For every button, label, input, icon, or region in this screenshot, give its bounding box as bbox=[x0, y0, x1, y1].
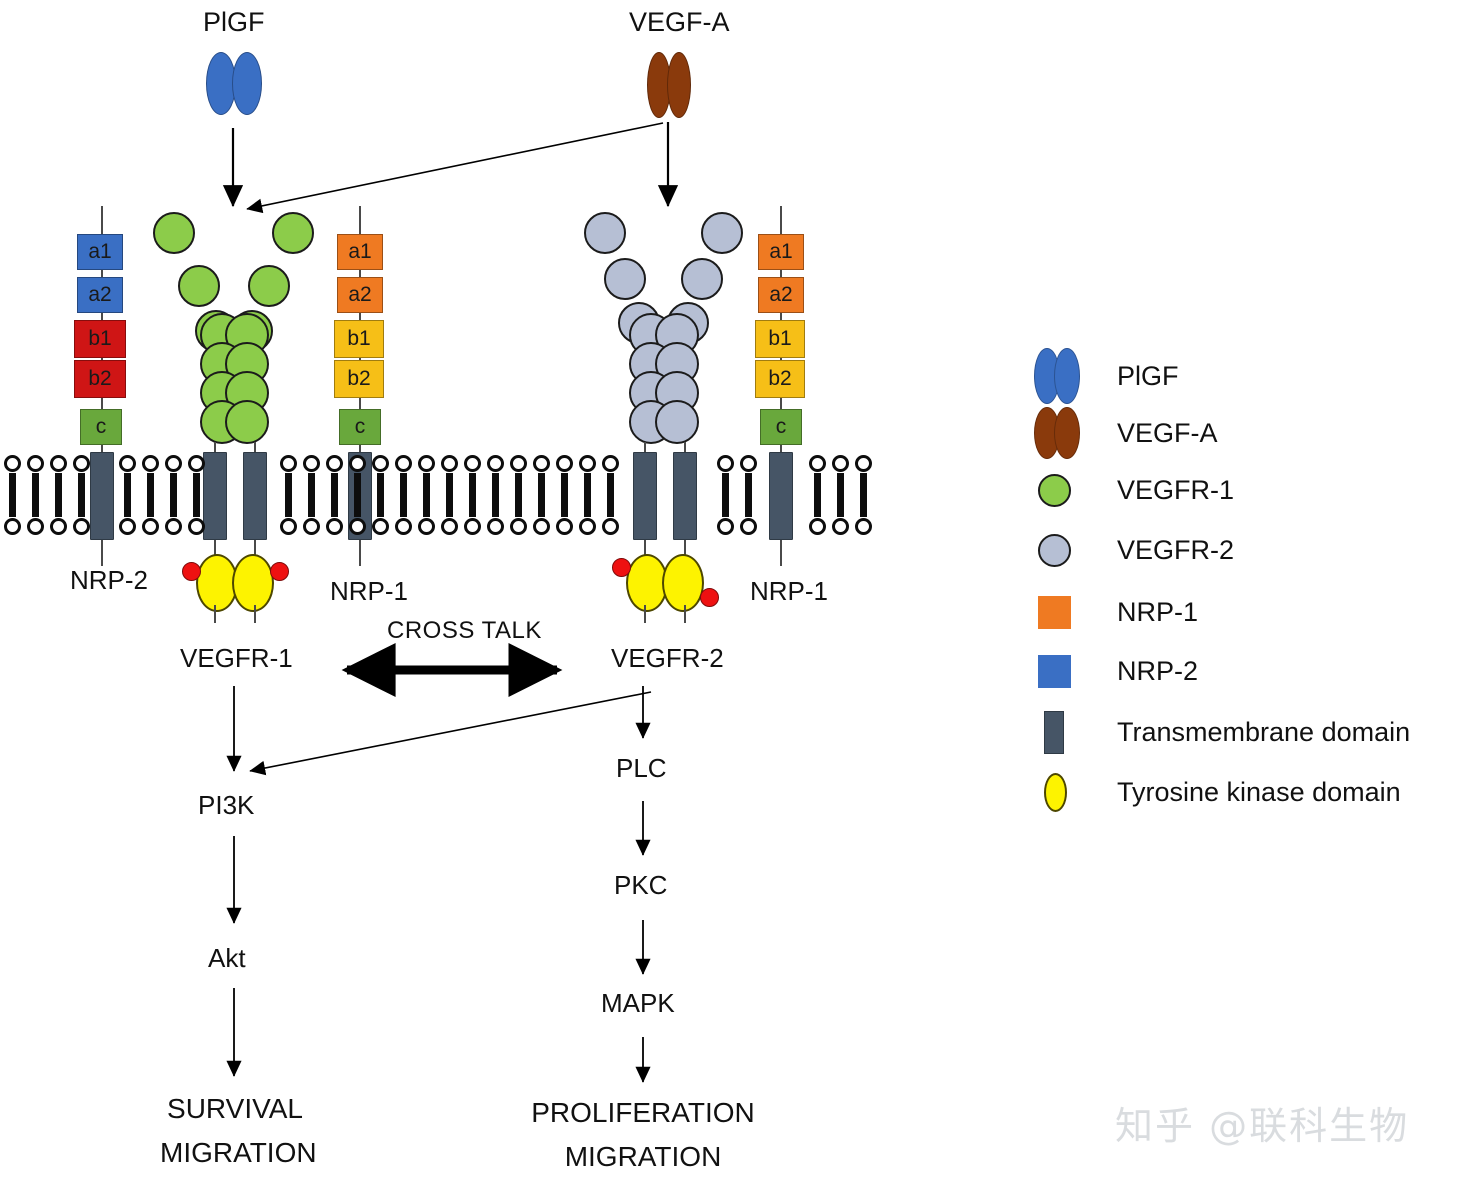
lipid-head-icon bbox=[142, 455, 159, 472]
lipid-tail-icon bbox=[124, 473, 131, 517]
phospholipid-bilayer bbox=[0, 455, 885, 537]
legend-panel: PlGF VEGF-A VEGFR-1 VEGFR-2 NRP-1 NRP-2 bbox=[1034, 348, 1476, 818]
lipid-tail-icon bbox=[745, 473, 752, 517]
cross-talk-label: CROSS TALK bbox=[387, 618, 542, 643]
vegfr2-phosphate-icon bbox=[612, 558, 631, 577]
lipid-head-icon bbox=[579, 455, 596, 472]
lipid-tail-icon bbox=[722, 473, 729, 517]
cascade-step-pi3k: PI3K bbox=[198, 792, 254, 819]
lipid-head-icon bbox=[533, 518, 550, 535]
legend-item-vegfa: VEGF-A bbox=[1034, 407, 1218, 459]
nrp1-right-domain-a1: a1 bbox=[758, 234, 804, 270]
cascade-step-plc: PLC bbox=[616, 755, 667, 782]
lipid-tail-icon bbox=[170, 473, 177, 517]
nrp1-middle-domain-b1: b1 bbox=[334, 320, 384, 358]
legend-circle-icon-vegfr1 bbox=[1038, 474, 1071, 507]
nrp1-right-domain-b1: b1 bbox=[755, 320, 805, 358]
lipid-tail-icon bbox=[9, 473, 16, 517]
legend-tall-rect-icon-transmembrane bbox=[1044, 711, 1064, 754]
lipid-tail-icon bbox=[285, 473, 292, 517]
legend-label: NRP-2 bbox=[1117, 656, 1198, 687]
legend-square-icon-nrp2 bbox=[1038, 655, 1071, 688]
lipid-tail-icon bbox=[147, 473, 154, 517]
lipid-head-icon bbox=[487, 455, 504, 472]
plgf-dimer-icon bbox=[206, 52, 262, 115]
lipid-head-icon bbox=[27, 455, 44, 472]
lipid-tail-icon bbox=[55, 473, 62, 517]
lipid-head-icon bbox=[464, 455, 481, 472]
lipid-head-icon bbox=[740, 455, 757, 472]
lipid-head-icon bbox=[441, 518, 458, 535]
lipid-head-icon bbox=[4, 455, 21, 472]
nrp2-domain-b1: b1 bbox=[74, 320, 126, 358]
ligand-label-plgf: PlGF bbox=[203, 8, 265, 36]
lipid-head-icon bbox=[50, 518, 67, 535]
coreceptor-label-nrp1-right: NRP-1 bbox=[750, 578, 828, 605]
lipid-head-icon bbox=[855, 455, 872, 472]
coreceptor-label-nrp1-middle: NRP-1 bbox=[330, 578, 408, 605]
lipid-head-icon bbox=[602, 518, 619, 535]
lipid-tail-icon bbox=[515, 473, 522, 517]
vegfr2-ig-domain bbox=[681, 258, 723, 300]
legend-dimer-icon-plgf bbox=[1034, 348, 1080, 404]
lipid-head-icon bbox=[165, 518, 182, 535]
nrp2-domain-b2: b2 bbox=[74, 360, 126, 398]
lipid-head-icon bbox=[188, 518, 205, 535]
cascade-step-akt: Akt bbox=[208, 945, 246, 972]
legend-item-nrp1: NRP-1 bbox=[1038, 596, 1198, 629]
legend-yellow-ellipse-icon-tyrosine-kinase bbox=[1044, 773, 1067, 812]
legend-item-plgf: PlGF bbox=[1034, 348, 1179, 404]
outcome-migration-left: MIGRATION bbox=[160, 1138, 310, 1167]
lipid-head-icon bbox=[418, 518, 435, 535]
legend-dimer-icon-vegfa bbox=[1034, 407, 1080, 459]
vegfr2-phosphate-icon bbox=[700, 588, 719, 607]
vegfr1-phosphate-icon bbox=[182, 562, 201, 581]
vegfr2-ig-domain bbox=[655, 400, 699, 444]
lipid-tail-icon bbox=[193, 473, 200, 517]
vegfr1-ig-domain bbox=[153, 212, 195, 254]
legend-label: VEGFR-1 bbox=[1117, 475, 1234, 506]
lipid-head-icon bbox=[556, 518, 573, 535]
legend-item-tyrosine-kinase: Tyrosine kinase domain bbox=[1044, 773, 1401, 812]
lipid-head-icon bbox=[602, 455, 619, 472]
lipid-tail-icon bbox=[860, 473, 867, 517]
lipid-tail-icon bbox=[814, 473, 821, 517]
legend-label: Tyrosine kinase domain bbox=[1117, 777, 1401, 808]
lipid-head-icon bbox=[188, 455, 205, 472]
nrp2-domain-c: c bbox=[80, 409, 122, 445]
lipid-head-icon bbox=[740, 518, 757, 535]
vegfr1-ig-domain bbox=[178, 265, 220, 307]
legend-label: NRP-1 bbox=[1117, 597, 1198, 628]
lipid-head-icon bbox=[119, 455, 136, 472]
vegfr2-tyrosine-kinase-domain bbox=[662, 554, 704, 612]
lipid-head-icon bbox=[349, 518, 366, 535]
legend-item-vegfr2: VEGFR-2 bbox=[1038, 534, 1234, 567]
lipid-head-icon bbox=[73, 455, 90, 472]
lipid-head-icon bbox=[73, 518, 90, 535]
vegfr1-phosphate-icon bbox=[270, 562, 289, 581]
vegfr1-tyrosine-kinase-domain bbox=[232, 554, 274, 612]
lipid-tail-icon bbox=[32, 473, 39, 517]
lipid-head-icon bbox=[717, 518, 734, 535]
arrow-vegfr2-to-pi3k bbox=[250, 692, 651, 771]
lipid-tail-icon bbox=[354, 473, 361, 517]
nrp2-domain-a1: a1 bbox=[77, 234, 123, 270]
coreceptor-label-nrp2-left: NRP-2 bbox=[70, 567, 148, 594]
legend-circle-icon-vegfr2 bbox=[1038, 534, 1071, 567]
lipid-tail-icon bbox=[538, 473, 545, 517]
legend-label: Transmembrane domain bbox=[1117, 717, 1410, 748]
lipid-head-icon bbox=[280, 518, 297, 535]
lipid-tail-icon bbox=[78, 473, 85, 517]
outcome-migration-right: MIGRATION bbox=[508, 1142, 778, 1171]
lipid-head-icon bbox=[326, 455, 343, 472]
nrp1-right-domain-c: c bbox=[760, 409, 802, 445]
lipid-head-icon bbox=[372, 455, 389, 472]
legend-item-vegfr1: VEGFR-1 bbox=[1038, 474, 1234, 507]
lipid-head-icon bbox=[142, 518, 159, 535]
nrp1-middle-domain-a2: a2 bbox=[337, 277, 383, 313]
outcome-proliferation: PROLIFERATION bbox=[508, 1098, 778, 1127]
legend-label: VEGF-A bbox=[1117, 418, 1218, 449]
legend-item-nrp2: NRP-2 bbox=[1038, 655, 1198, 688]
receptor-label-vegfr2: VEGFR-2 bbox=[611, 645, 724, 672]
lipid-head-icon bbox=[349, 455, 366, 472]
lipid-head-icon bbox=[809, 455, 826, 472]
lipid-tail-icon bbox=[308, 473, 315, 517]
nrp1-middle-domain-c: c bbox=[339, 409, 381, 445]
lipid-head-icon bbox=[4, 518, 21, 535]
lipid-head-icon bbox=[50, 455, 67, 472]
nrp1-middle-domain-a1: a1 bbox=[337, 234, 383, 270]
lipid-head-icon bbox=[832, 518, 849, 535]
lipid-tail-icon bbox=[469, 473, 476, 517]
lipid-head-icon bbox=[556, 455, 573, 472]
vegfr1-ig-domain bbox=[272, 212, 314, 254]
lipid-tail-icon bbox=[331, 473, 338, 517]
lipid-head-icon bbox=[27, 518, 44, 535]
nrp1-right-domain-b2: b2 bbox=[755, 360, 805, 398]
vegfr1-ig-domain bbox=[225, 400, 269, 444]
lipid-head-icon bbox=[395, 518, 412, 535]
lipid-head-icon bbox=[855, 518, 872, 535]
nrp1-right-domain-a2: a2 bbox=[758, 277, 804, 313]
lipid-head-icon bbox=[441, 455, 458, 472]
legend-item-transmembrane: Transmembrane domain bbox=[1044, 711, 1410, 754]
lipid-head-icon bbox=[372, 518, 389, 535]
vegfr1-ig-domain bbox=[248, 265, 290, 307]
vegfr2-ig-domain bbox=[701, 212, 743, 254]
watermark-text: 知乎 @联科生物 bbox=[1115, 1095, 1409, 1150]
lipid-head-icon bbox=[303, 455, 320, 472]
nrp1-middle-domain-b2: b2 bbox=[334, 360, 384, 398]
lipid-head-icon bbox=[579, 518, 596, 535]
lipid-tail-icon bbox=[377, 473, 384, 517]
cascade-step-pkc: PKC bbox=[614, 872, 667, 899]
vegfr2-ig-domain bbox=[584, 212, 626, 254]
lipid-head-icon bbox=[487, 518, 504, 535]
lipid-tail-icon bbox=[423, 473, 430, 517]
lipid-head-icon bbox=[326, 518, 343, 535]
lipid-tail-icon bbox=[607, 473, 614, 517]
pathway-diagram-canvas: PlGF VEGF-A a1 a2 b1 b2 c NRP-2 bbox=[0, 0, 1476, 1188]
legend-square-icon-nrp1 bbox=[1038, 596, 1071, 629]
lipid-tail-icon bbox=[492, 473, 499, 517]
ligand-label-vegfa: VEGF-A bbox=[629, 8, 730, 36]
vegfr2-tail bbox=[684, 605, 686, 623]
lipid-head-icon bbox=[809, 518, 826, 535]
lipid-head-icon bbox=[303, 518, 320, 535]
lipid-head-icon bbox=[832, 455, 849, 472]
lipid-tail-icon bbox=[584, 473, 591, 517]
lipid-head-icon bbox=[717, 455, 734, 472]
outcome-survival: SURVIVAL bbox=[160, 1094, 310, 1123]
cascade-step-mapk: MAPK bbox=[601, 990, 675, 1017]
lipid-tail-icon bbox=[446, 473, 453, 517]
lipid-tail-icon bbox=[561, 473, 568, 517]
lipid-head-icon bbox=[510, 518, 527, 535]
lipid-head-icon bbox=[510, 455, 527, 472]
lipid-tail-icon bbox=[837, 473, 844, 517]
nrp2-domain-a2: a2 bbox=[77, 277, 123, 313]
legend-label: PlGF bbox=[1117, 361, 1179, 392]
vegfr2-tail bbox=[644, 605, 646, 623]
lipid-head-icon bbox=[165, 455, 182, 472]
lipid-head-icon bbox=[418, 455, 435, 472]
receptor-label-vegfr1: VEGFR-1 bbox=[180, 645, 293, 672]
arrow-vegfa-to-vegfr1 bbox=[247, 123, 663, 209]
lipid-head-icon bbox=[464, 518, 481, 535]
vegfr2-ig-domain bbox=[604, 258, 646, 300]
lipid-head-icon bbox=[119, 518, 136, 535]
lipid-head-icon bbox=[533, 455, 550, 472]
lipid-tail-icon bbox=[400, 473, 407, 517]
vegfr1-tail bbox=[214, 605, 216, 623]
lipid-head-icon bbox=[395, 455, 412, 472]
lipid-head-icon bbox=[280, 455, 297, 472]
vegfr1-tail bbox=[254, 605, 256, 623]
legend-label: VEGFR-2 bbox=[1117, 535, 1234, 566]
vegfa-dimer-icon bbox=[647, 52, 691, 118]
